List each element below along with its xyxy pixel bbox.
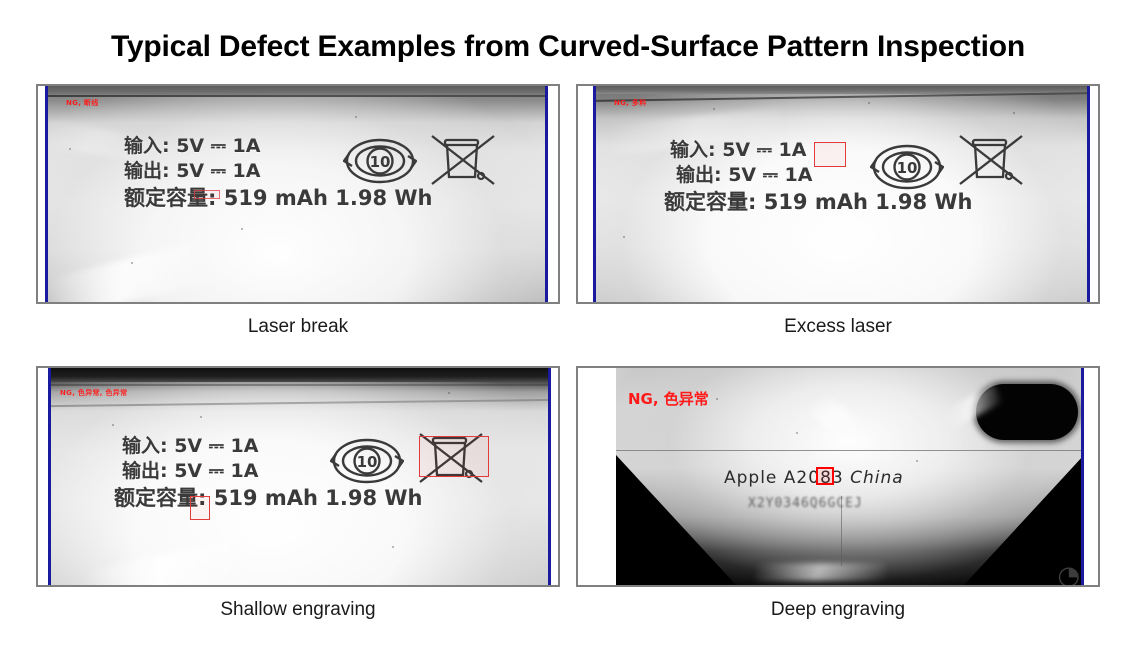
panel-image-deep-engraving: Apple A2083 China X2Y0346Q6GCEJ ◔ NG, 色异… (578, 368, 1098, 585)
page-title: Typical Defect Examples from Curved-Surf… (0, 30, 1136, 64)
defect-bounding-box (816, 467, 834, 485)
crossed-bin-icon (956, 128, 1028, 195)
dust-speck (355, 116, 357, 118)
image-gutter-left (578, 86, 593, 302)
image-gutter-right (1084, 368, 1098, 585)
defect-panel-laser-break[interactable]: 输入: 5V ⎓ 1A 输出: 5V ⎓ 1A 额定容量: 519 mAh 1.… (36, 84, 560, 304)
recycle-10-icon: 10 (343, 134, 417, 193)
panel-caption-shallow-engraving: Shallow engraving (36, 599, 560, 621)
panel-caption-laser-break: Laser break (36, 316, 560, 338)
surface-seam-line (616, 450, 1084, 451)
panel-caption-deep-engraving: Deep engraving (576, 599, 1100, 621)
defect-panel-deep-engraving[interactable]: Apple A2083 China X2Y0346Q6GCEJ ◔ NG, 色异… (576, 366, 1100, 587)
image-gutter-right (548, 86, 558, 302)
image-edge-line-left (48, 368, 51, 585)
image-edge-line-right (1081, 368, 1084, 585)
image-edge-line-left (45, 86, 48, 302)
image-edge-line-right (548, 368, 551, 585)
dust-speck (1013, 112, 1015, 114)
defect-panel-shallow-engraving[interactable]: 输入: 5V ⎓ 1A 输出: 5V ⎓ 1A 额定容量: 519 mAh 1.… (36, 366, 560, 587)
dust-speck (131, 262, 133, 264)
dust-speck (916, 460, 918, 462)
edge-hairline (48, 384, 551, 386)
model-prefix: Apple A20 (724, 468, 820, 488)
panel-image-shallow-engraving: 输入: 5V ⎓ 1A 输出: 5V ⎓ 1A 额定容量: 519 mAh 1.… (38, 368, 558, 585)
panel-caption-excess-laser: Excess laser (576, 316, 1100, 338)
image-edge-line-right (1087, 86, 1090, 302)
specular-highlight-3 (756, 563, 886, 581)
recycle-years-value: 10 (357, 453, 378, 471)
dust-speck (623, 236, 625, 238)
dust-speck (69, 148, 71, 150)
panel-image-excess-laser: 输入: 5V ⎓ 1A 输出: 5V ⎓ 1A 额定容量: 519 mAh 1.… (578, 86, 1098, 302)
image-gutter-right (1090, 86, 1098, 302)
dust-speck (713, 108, 715, 110)
model-country: China (850, 468, 904, 488)
dust-speck (796, 432, 798, 434)
recycle-10-icon: 10 (870, 140, 944, 199)
image-gutter-left (38, 86, 45, 302)
image-gutter-right (551, 368, 558, 585)
engraved-model-line: Apple A2083 China (724, 468, 904, 488)
image-edge-line-left (593, 86, 596, 302)
defect-bounding-box (814, 142, 846, 167)
model-suffix: 3 (832, 468, 850, 488)
recycle-10-icon: 10 (330, 434, 404, 493)
ng-annotation-text: NG, 多料 (614, 98, 647, 108)
dust-speck (392, 546, 394, 548)
image-gutter-left (38, 368, 48, 585)
ng-annotation-text: NG, 断线 (66, 98, 99, 108)
edge-hairline (45, 95, 548, 97)
ng-annotation-text: NG, 色异常, 色异常 (60, 388, 127, 398)
top-shadow-band (48, 368, 551, 382)
defect-bounding-box-secondary (190, 496, 210, 520)
image-edge-line-right (545, 86, 548, 302)
dust-speck (241, 228, 243, 230)
engraved-serial-number: X2Y0346Q6GCEJ (748, 496, 863, 511)
dust-speck (200, 416, 202, 418)
recycle-years-value: 10 (370, 153, 391, 171)
dust-speck (868, 102, 870, 104)
dust-speck (716, 398, 718, 400)
recycle-years-value: 10 (897, 159, 918, 177)
defect-panel-excess-laser[interactable]: 输入: 5V ⎓ 1A 输出: 5V ⎓ 1A 额定容量: 519 mAh 1.… (576, 84, 1100, 304)
defect-bounding-box (194, 190, 220, 199)
panel-image-laser-break: 输入: 5V ⎓ 1A 输出: 5V ⎓ 1A 额定容量: 519 mAh 1.… (38, 86, 558, 302)
dust-speck (448, 392, 450, 394)
ng-annotation-text: NG, 色异常 (628, 388, 709, 409)
defect-bounding-box (419, 436, 489, 477)
dust-speck (112, 424, 114, 426)
image-gutter-left (578, 368, 616, 585)
corner-artifact: ◔ (1057, 561, 1080, 585)
crossed-bin-icon (428, 128, 500, 195)
